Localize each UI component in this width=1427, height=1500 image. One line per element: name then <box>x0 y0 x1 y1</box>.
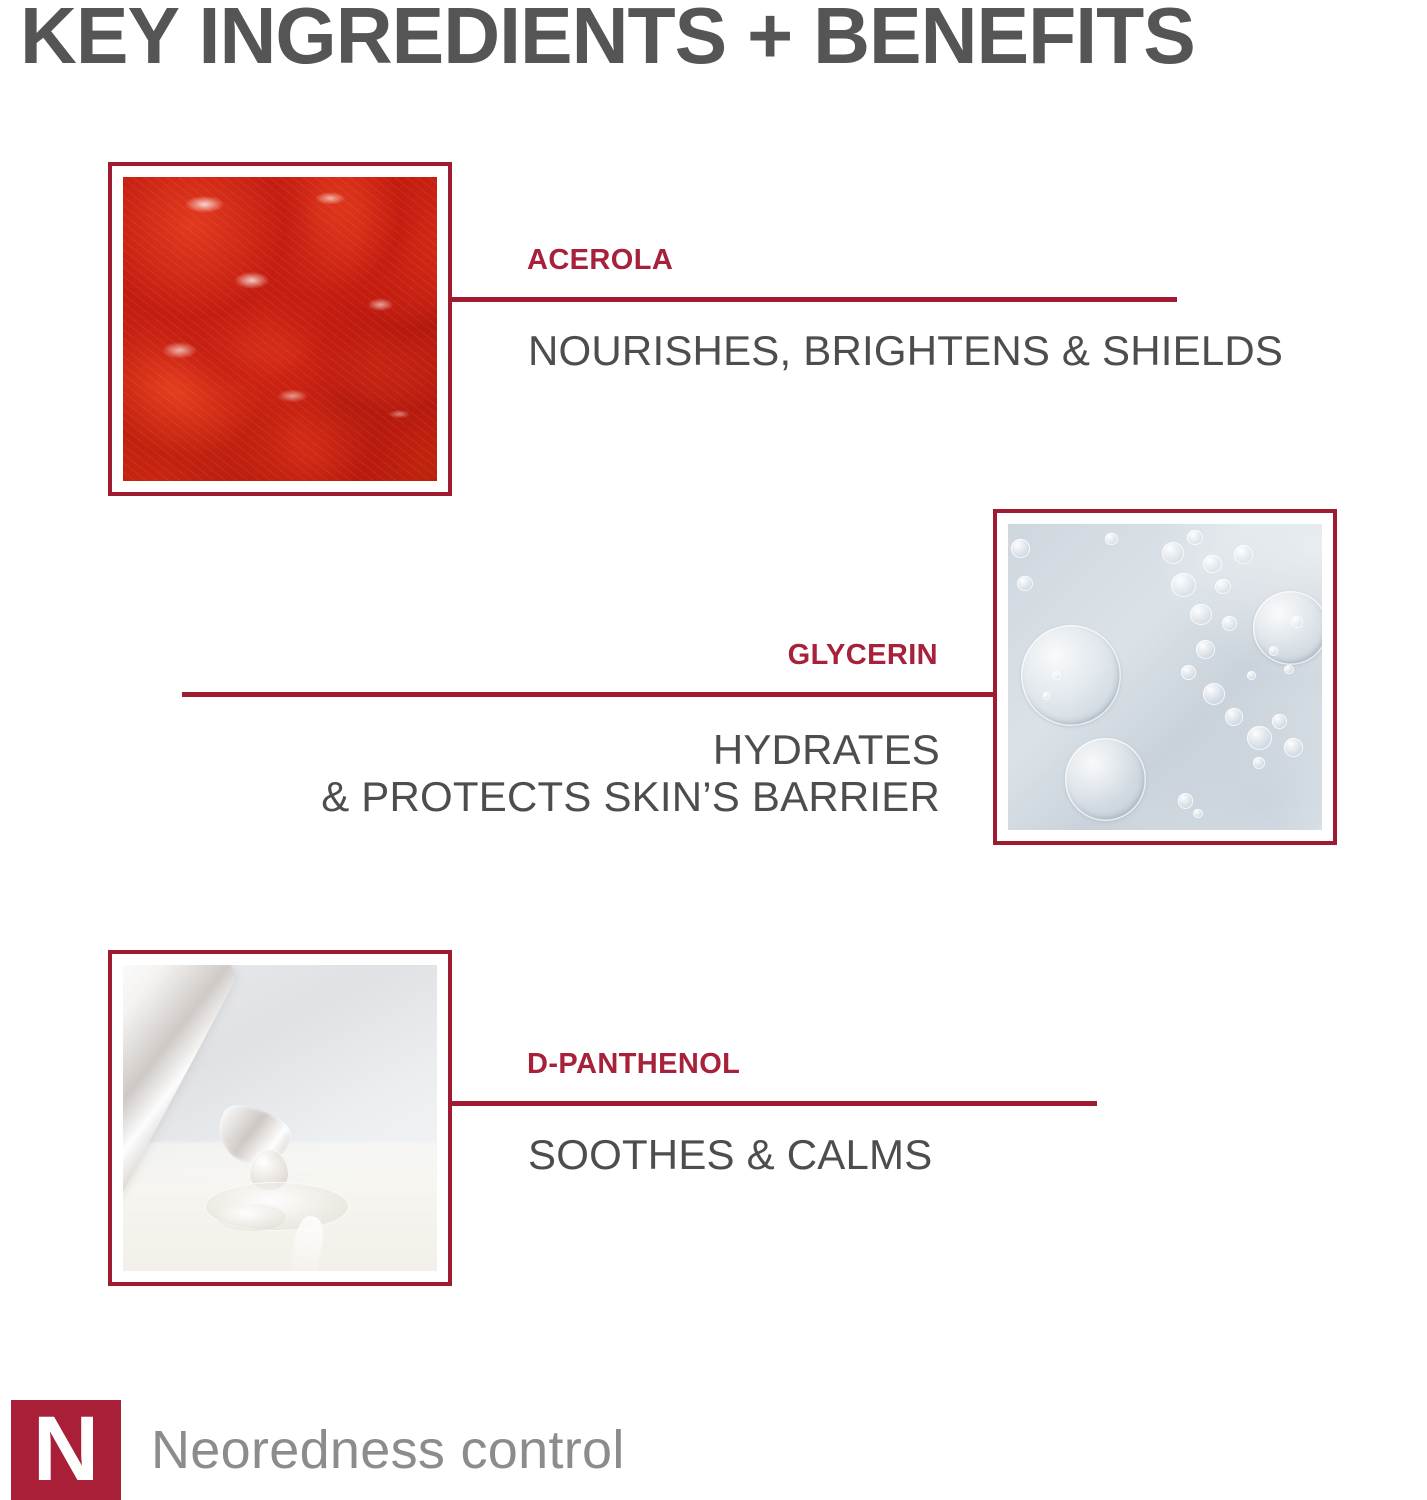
brand-monogram-icon: N <box>11 1400 121 1500</box>
ingredient-image-glycerin <box>993 509 1337 845</box>
glycerin-bubbles-photo <box>1008 524 1322 830</box>
ingredient-benefit-glycerin: HYDRATES & PROTECTS SKIN’S BARRIER <box>321 726 940 820</box>
serum-dropper-photo <box>123 965 437 1271</box>
acerola-cherries-photo <box>123 177 437 481</box>
ingredient-benefit-acerola: NOURISHES, BRIGHTENS & SHIELDS <box>528 327 1283 374</box>
connector-line-panthenol <box>452 1101 1097 1106</box>
connector-line-glycerin <box>182 692 993 697</box>
brand-name: Neoredness control <box>151 1419 625 1481</box>
ingredient-name-panthenol: D-PANTHENOL <box>527 1048 740 1081</box>
ingredient-benefit-panthenol: SOOTHES & CALMS <box>528 1131 932 1178</box>
ingredient-name-glycerin: GLYCERIN <box>788 639 938 672</box>
ingredient-image-acerola <box>108 162 452 496</box>
page-title: KEY INGREDIENTS + BENEFITS <box>20 0 1195 76</box>
connector-line-acerola <box>452 297 1177 302</box>
ingredient-name-acerola: ACEROLA <box>527 244 673 277</box>
brand-lockup: N Neoredness control <box>11 1400 625 1500</box>
ingredient-image-panthenol <box>108 950 452 1286</box>
